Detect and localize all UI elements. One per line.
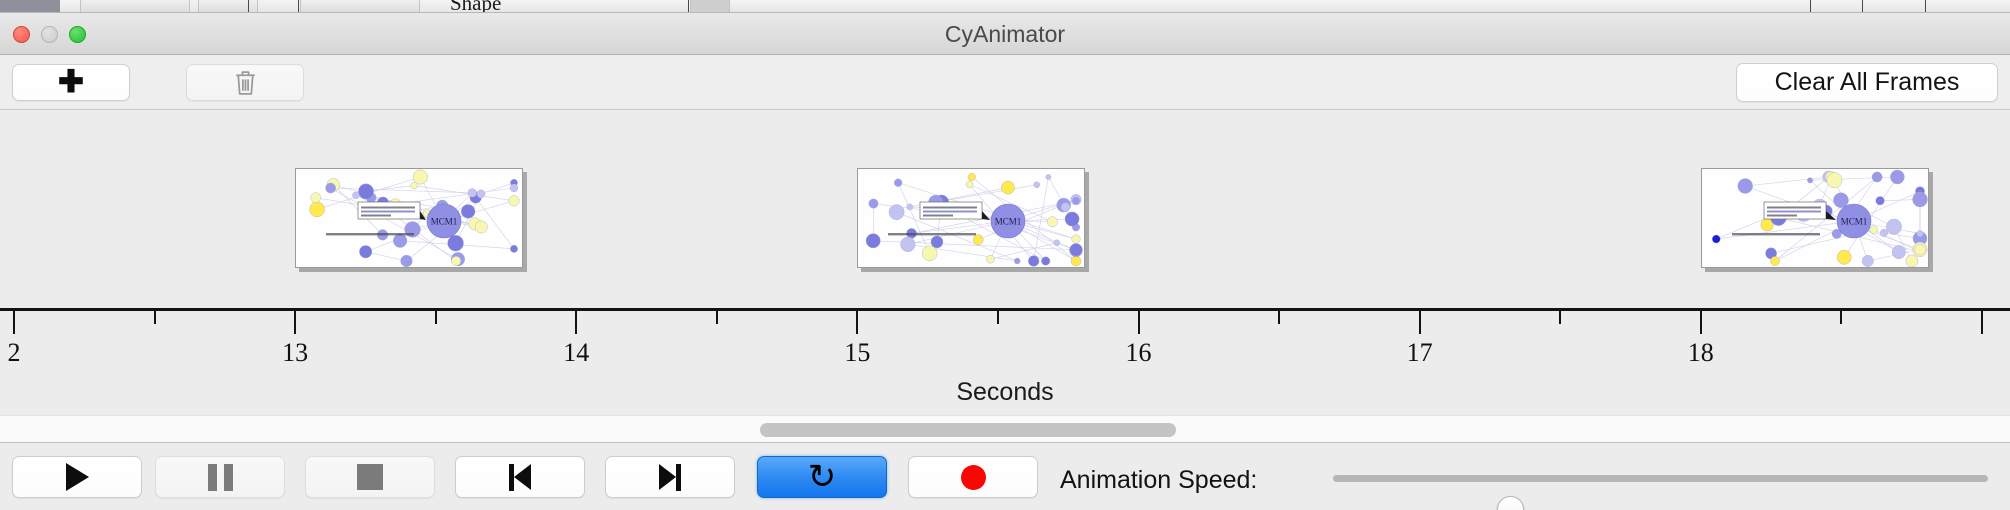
background-window-divider [298, 0, 299, 13]
axis-tick-major [1138, 311, 1140, 334]
skip-next-button[interactable] [605, 456, 735, 498]
axis-tick-label: 17 [1407, 338, 1433, 368]
background-window-divider [1862, 0, 1863, 13]
stop-button[interactable] [305, 456, 435, 498]
skip-forward-icon [659, 464, 681, 491]
axis-tick-label: 13 [282, 338, 308, 368]
axis-tick-major [856, 311, 858, 334]
clear-all-frames-button[interactable]: Clear All Frames [1736, 63, 1998, 102]
window-title: CyAnimator [0, 13, 2010, 55]
stop-icon [357, 464, 383, 490]
axis-tick-minor [154, 311, 156, 324]
background-window-dark-chip [0, 0, 60, 12]
frame-thumbnail[interactable]: MCM1 [1701, 168, 1929, 268]
svg-text:MCM1: MCM1 [431, 217, 458, 227]
plus-icon: ✚ [58, 70, 84, 95]
network-graph-preview: MCM1 [296, 169, 523, 268]
background-window-chip [198, 0, 258, 13]
skip-back-icon [509, 464, 531, 491]
background-window-divider [1810, 0, 1811, 13]
axis-tick-minor [997, 311, 999, 324]
timeline-scrollbar-thumb[interactable] [760, 423, 1176, 437]
traffic-light-group [13, 26, 86, 43]
pause-icon [208, 464, 233, 491]
delete-frame-button[interactable] [186, 64, 304, 101]
axis-tick-label: 14 [563, 338, 589, 368]
svg-text:MCM1: MCM1 [995, 217, 1022, 227]
frame-thumbnail[interactable]: MCM1 [857, 168, 1085, 268]
axis-tick-label: 2 [8, 338, 21, 368]
frame-thumbnail[interactable]: MCM1 [295, 168, 523, 268]
background-window-divider [688, 0, 689, 13]
pause-button[interactable] [155, 456, 285, 498]
axis-tick-major [1981, 311, 1983, 334]
axis-tick-major [294, 311, 296, 334]
add-frame-button[interactable]: ✚ [12, 64, 130, 101]
record-button[interactable] [908, 456, 1038, 498]
background-window-chip [690, 0, 730, 13]
background-window-strip: Shape [0, 0, 2010, 13]
axis-title: Seconds [0, 378, 2010, 407]
skip-previous-button[interactable] [455, 456, 585, 498]
axis-tick-minor [1840, 311, 1842, 324]
axis-tick-major [13, 311, 15, 334]
timeline-scrollbar[interactable] [0, 415, 2010, 443]
svg-text:MCM1: MCM1 [1841, 217, 1868, 227]
background-window-divider [248, 0, 249, 13]
minimize-dot-icon[interactable] [41, 26, 58, 43]
axis-tick-label: 18 [1688, 338, 1714, 368]
network-graph-preview: MCM1 [858, 169, 1085, 268]
animation-speed-label: Animation Speed: [1060, 466, 1257, 495]
record-icon [961, 465, 986, 490]
axis-tick-major [1419, 311, 1421, 334]
network-graph-preview: MCM1 [1702, 169, 1929, 268]
background-window-chip [80, 0, 190, 13]
playback-controls-bar: ↻ Animation Speed: [0, 444, 2010, 510]
axis-tick-minor [435, 311, 437, 324]
background-window-label: Shape [450, 0, 501, 13]
frame-toolbar: ✚ Clear All Frames [0, 55, 2010, 110]
axis-tick-major [1700, 311, 1702, 334]
timeline-panel[interactable]: MCM1MCM1MCM1 2131415161718 Seconds [0, 110, 2010, 415]
background-window-divider [1925, 0, 1926, 13]
axis-tick-major [575, 311, 577, 334]
play-button[interactable] [12, 456, 142, 498]
axis-tick-minor [716, 311, 718, 324]
clear-all-frames-label: Clear All Frames [1775, 68, 1960, 97]
axis-tick-minor [1278, 311, 1280, 324]
cyanimator-window: Shape CyAnimator ✚ Clear All Frames MCM1… [0, 0, 2010, 510]
axis-tick-label: 15 [844, 338, 870, 368]
axis-tick-label: 16 [1126, 338, 1152, 368]
animation-speed-slider-thumb[interactable] [1497, 496, 1524, 510]
play-icon [66, 463, 89, 491]
loop-button[interactable]: ↻ [757, 456, 887, 498]
maximize-dot-icon[interactable] [69, 26, 86, 43]
background-window-chip [300, 0, 420, 13]
loop-icon: ↻ [808, 463, 837, 492]
title-bar: CyAnimator [0, 13, 2010, 55]
animation-speed-slider[interactable] [1333, 475, 1988, 482]
axis-tick-minor [1559, 311, 1561, 324]
close-dot-icon[interactable] [13, 26, 30, 43]
trash-icon [233, 68, 258, 97]
timeline-axis [0, 308, 2010, 311]
